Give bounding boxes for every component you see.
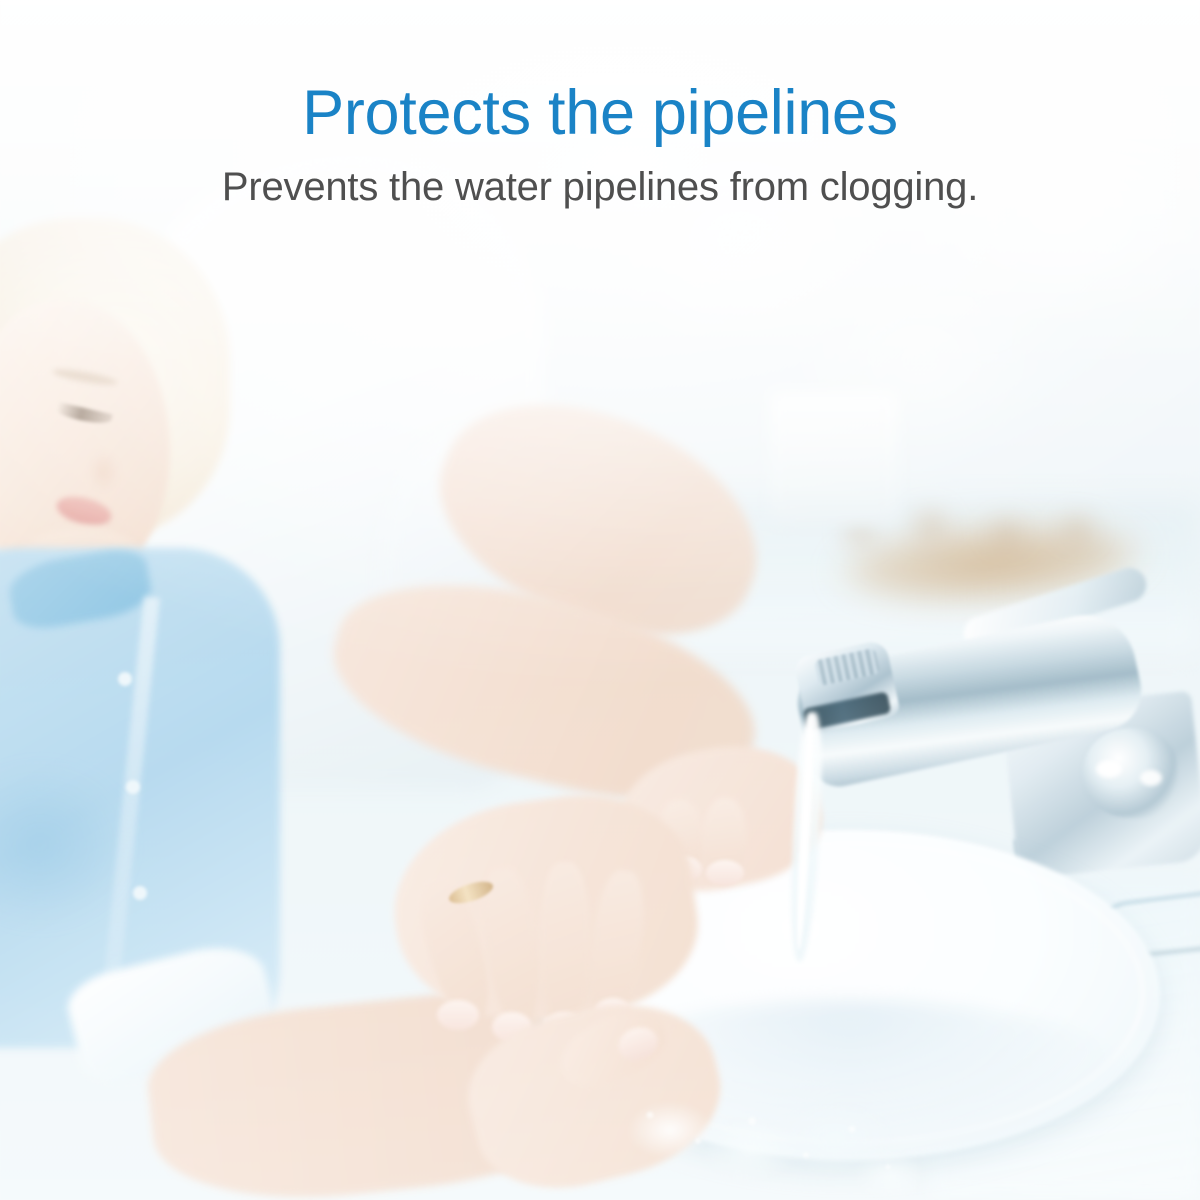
- banner-text-block: Protects the pipelines Prevents the wate…: [0, 82, 1200, 207]
- adult-finger: [540, 862, 590, 1034]
- denim-button: [133, 886, 147, 900]
- adult-fingernail: [706, 860, 744, 886]
- white-cup: [770, 392, 898, 524]
- denim-button: [126, 780, 140, 794]
- denim-button: [118, 672, 132, 686]
- adult-fingernail: [437, 1000, 479, 1030]
- page-subtitle: Prevents the water pipelines from cloggi…: [0, 167, 1200, 207]
- marketing-banner: Protects the pipelines Prevents the wate…: [0, 0, 1200, 1200]
- faucet-handle-highlight: [1096, 760, 1122, 778]
- page-title: Protects the pipelines: [0, 82, 1200, 145]
- faucet-handle-highlight: [1140, 770, 1162, 786]
- water-droplets: [620, 1095, 920, 1200]
- child-nose: [84, 432, 140, 498]
